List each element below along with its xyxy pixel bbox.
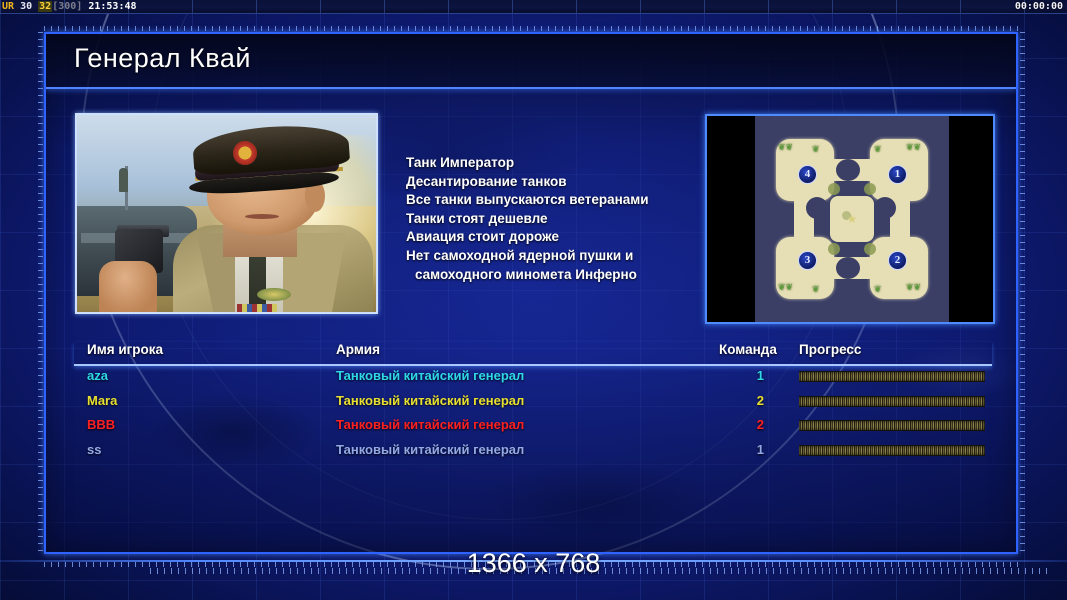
player-progress [799, 371, 985, 382]
ability-line: Десантирование танков [406, 173, 736, 192]
frame-count: [300] [52, 1, 82, 12]
game-screen: UR 30 32[300] 21:53:48 00:00:00 Генерал … [0, 0, 1067, 600]
table-row: Mara Танковый китайский генерал 2 [74, 393, 992, 418]
clock: 21:53:48 [88, 1, 136, 12]
player-name: aza [87, 368, 108, 383]
minimap-start-position-1: 1 [888, 165, 907, 184]
progress-bar [799, 396, 985, 407]
minimap-foliage [828, 243, 840, 255]
minimap: ★ ❦❦ ❦ ❦ ❦❦ ❦❦ ❦ ❦ ❦❦ 4 1 3 2 [755, 116, 949, 322]
status-bar-ticks [0, 0, 1067, 13]
table-row: aza Танковый китайский генерал 1 [74, 368, 992, 393]
progress-bar [799, 371, 985, 382]
player-army: Танковый китайский генерал [336, 368, 524, 383]
player-army: Танковый китайский генерал [336, 442, 524, 457]
progress-bar [799, 420, 985, 431]
minimap-start-position-2: 2 [888, 251, 907, 270]
ruler-top [44, 26, 1018, 31]
player-table-header: Имя игрока Армия Команда Прогресс [74, 342, 992, 366]
column-header-player-name: Имя игрока [87, 342, 163, 357]
column-header-team: Команда [719, 342, 777, 357]
player-progress [799, 396, 985, 407]
ability-line: Танки стоят дешевле [406, 210, 736, 229]
minimap-frame: ★ ❦❦ ❦ ❦ ❦❦ ❦❦ ❦ ❦ ❦❦ 4 1 3 2 [705, 114, 995, 324]
player-army: Танковый китайский генерал [336, 393, 524, 408]
minimap-water [874, 197, 896, 219]
player-table-body: aza Танковый китайский генерал 1 Mara Та… [74, 368, 992, 466]
player-army: Танковый китайский генерал [336, 417, 524, 432]
player-name: ss [87, 442, 101, 457]
minimap-tree-icon: ❦❦ [906, 283, 921, 292]
column-header-army: Армия [336, 342, 380, 357]
player-name: BBB [87, 417, 115, 432]
status-bar-left: UR 30 32[300] 21:53:48 [2, 0, 137, 14]
page-title: Генерал Квай [74, 43, 251, 74]
loading-panel: Генерал Квай [44, 32, 1018, 554]
portrait-ribbons [237, 304, 277, 312]
ability-line: Все танки выпускаются ветеранами [406, 191, 736, 210]
minimap-tree-icon: ❦ [874, 145, 882, 154]
ability-line: Авиация стоит дороже [406, 228, 736, 247]
minimap-tree-icon: ❦ [874, 285, 882, 294]
minimap-tree-icon: ❦❦ [778, 283, 793, 292]
resolution-label: 1366 x 768 [0, 548, 1067, 579]
table-row: BBB Танковый китайский генерал 2 [74, 417, 992, 442]
portrait-mouth [245, 214, 279, 219]
minimap-foliage [864, 183, 876, 195]
player-team: 1 [742, 442, 764, 457]
fps-highlight-value: 32 [38, 1, 52, 12]
minimap-foliage [828, 183, 840, 195]
player-progress [799, 445, 985, 456]
session-timer: 00:00:00 [1015, 0, 1063, 14]
minimap-tree-icon: ❦ [812, 285, 820, 294]
minimap-tree-icon: ❦ [812, 145, 820, 154]
fps-value: 30 [20, 1, 32, 12]
ur-label: UR [2, 1, 14, 12]
general-portrait-image [77, 115, 376, 312]
progress-bar [799, 445, 985, 456]
player-progress [799, 420, 985, 431]
ability-line: Нет самоходной ядерной пушки и [406, 247, 736, 266]
minimap-center-star-icon: ★ [847, 213, 858, 225]
general-abilities-list: Танк Император Десантирование танков Все… [406, 154, 736, 284]
minimap-tree-icon: ❦❦ [906, 143, 921, 152]
ruler-right [1020, 32, 1025, 554]
minimap-start-position-4: 4 [798, 165, 817, 184]
player-team: 2 [742, 417, 764, 432]
player-team: 2 [742, 393, 764, 408]
portrait-soldier [119, 168, 128, 192]
title-band: Генерал Квай [46, 34, 1016, 89]
minimap-terrain: ★ ❦❦ ❦ ❦ ❦❦ ❦❦ ❦ ❦ ❦❦ 4 1 3 2 [776, 139, 928, 299]
minimap-start-position-3: 3 [798, 251, 817, 270]
ability-line: самоходного миномета Инферно [406, 266, 736, 285]
player-team: 1 [742, 368, 764, 383]
ability-line: Танк Император [406, 154, 736, 173]
minimap-tree-icon: ❦❦ [778, 143, 793, 152]
status-bar: UR 30 32[300] 21:53:48 00:00:00 [0, 0, 1067, 14]
minimap-water [836, 257, 860, 279]
table-row: ss Танковый китайский генерал 1 [74, 442, 992, 467]
portrait-hand [99, 261, 157, 312]
general-portrait-frame [75, 113, 378, 314]
minimap-foliage [864, 243, 876, 255]
minimap-water [836, 159, 860, 181]
column-header-progress: Прогресс [799, 342, 861, 357]
minimap-water [806, 197, 828, 219]
player-name: Mara [87, 393, 117, 408]
ruler-left [38, 32, 43, 554]
